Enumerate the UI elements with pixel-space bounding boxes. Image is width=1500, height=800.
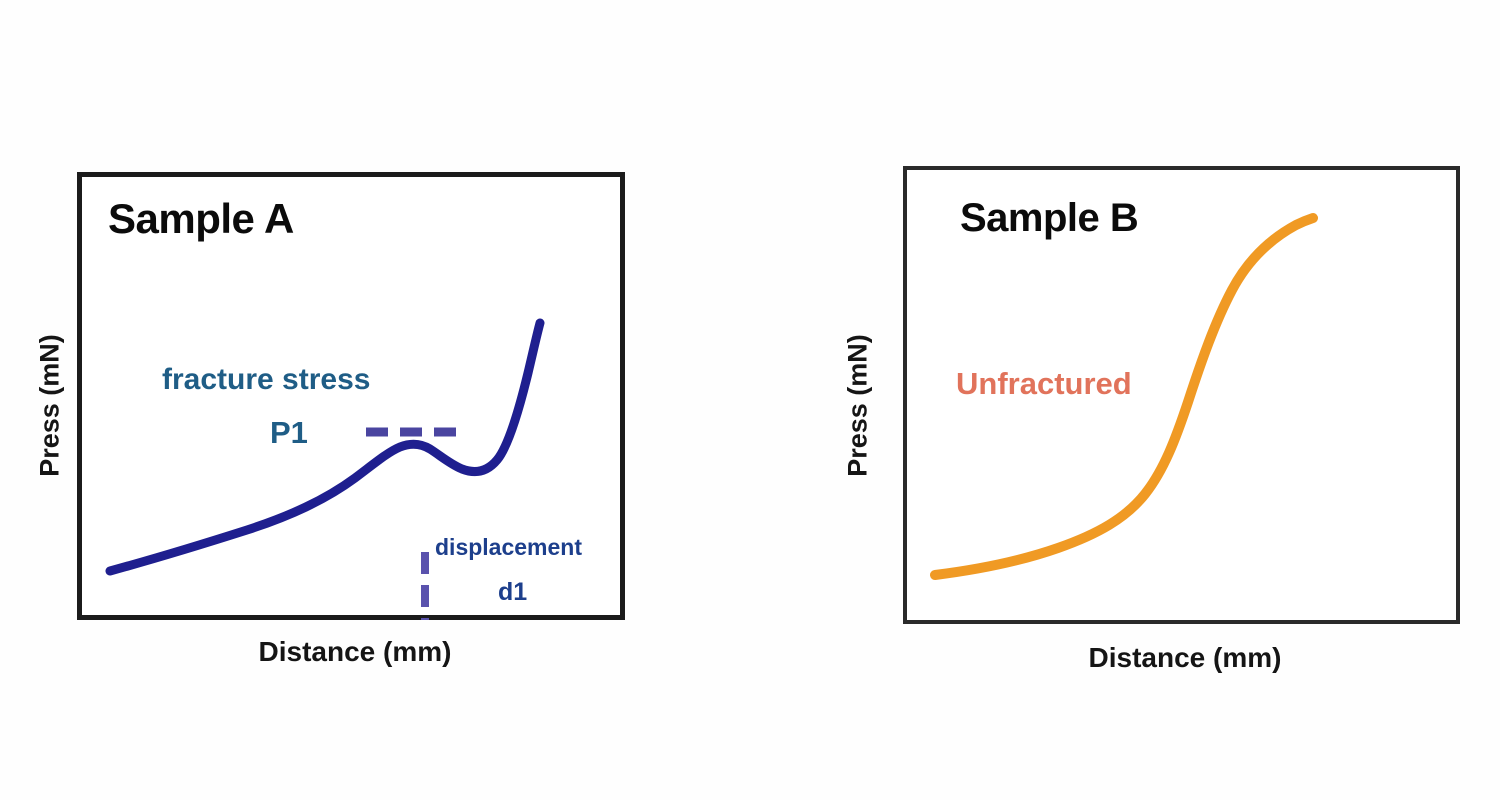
panel-sample-b: Sample B Unfractured Press (mN) Distance… bbox=[760, 0, 1500, 800]
d1-label: d1 bbox=[498, 578, 527, 607]
figure-root: Sample A fracture stress P1 displacement… bbox=[0, 0, 1500, 800]
panel-a-y-axis-label: Press (mN) bbox=[35, 296, 66, 516]
panel-a-title: Sample A bbox=[108, 195, 294, 243]
p1-label: P1 bbox=[270, 415, 308, 451]
unfractured-label: Unfractured bbox=[956, 366, 1132, 402]
displacement-label: displacement bbox=[435, 534, 582, 561]
panel-b-x-axis-label: Distance (mm) bbox=[950, 642, 1420, 674]
panel-b-title: Sample B bbox=[960, 196, 1138, 241]
panel-sample-a: Sample A fracture stress P1 displacement… bbox=[0, 0, 700, 800]
fracture-stress-label: fracture stress bbox=[162, 363, 370, 397]
panel-b-y-axis-label: Press (mN) bbox=[843, 296, 874, 516]
panel-a-x-axis-label: Distance (mm) bbox=[130, 636, 580, 668]
